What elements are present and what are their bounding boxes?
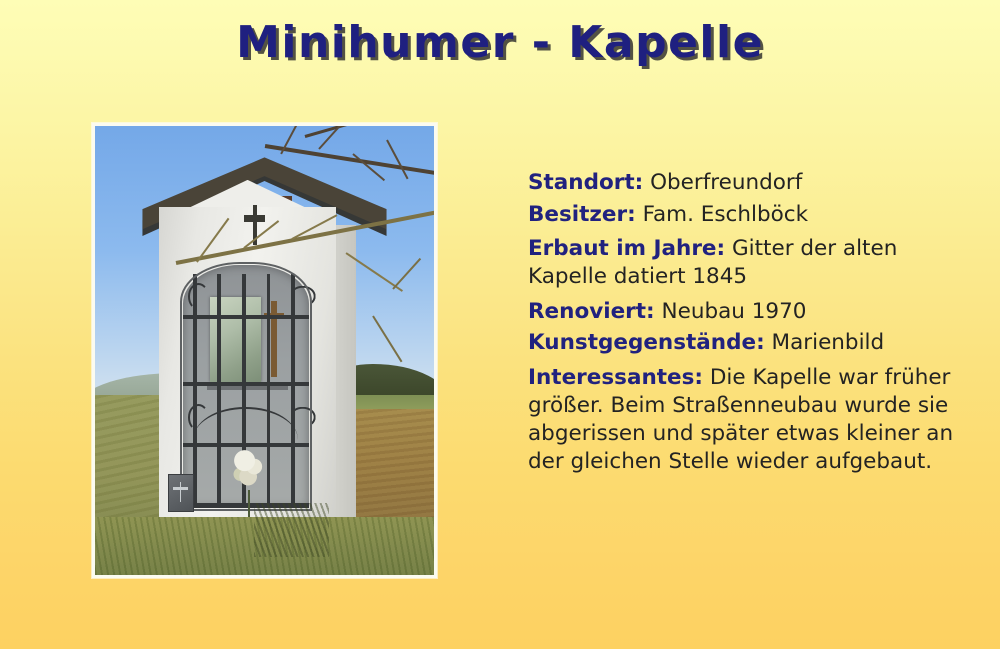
info-row-besitzer: Besitzer: Fam. Eschlböck <box>528 204 983 226</box>
page-title: Minihumer - Kapelle <box>0 18 1000 69</box>
info-row-kunstgegenstaende: Kunstgegenstände: Marienbild <box>528 332 983 354</box>
info-value-kunstgegenstaende: Marienbild <box>772 330 885 355</box>
info-label-standort: Standort: <box>528 170 643 195</box>
chapel-info-list: Standort: Oberfreundorf Besitzer: Fam. E… <box>528 172 983 486</box>
chapel-photo-frame <box>92 123 437 578</box>
grass-tuft <box>254 503 329 557</box>
info-value-standort: Oberfreundorf <box>650 170 802 195</box>
info-label-besitzer: Besitzer: <box>528 202 636 227</box>
info-row-erbaut: Erbaut im Jahre: Gitter der alten Kapell… <box>528 235 983 291</box>
info-label-kunstgegenstaende: Kunstgegenstände: <box>528 330 765 355</box>
info-row-renoviert: Renoviert: Neubau 1970 <box>528 301 983 323</box>
info-row-standort: Standort: Oberfreundorf <box>528 172 983 194</box>
info-label-erbaut: Erbaut im Jahre: <box>528 236 725 261</box>
survey-marker-plaque <box>168 474 194 512</box>
info-value-besitzer: Fam. Eschlböck <box>643 202 808 227</box>
info-value-renoviert: Neubau 1970 <box>662 299 807 324</box>
info-label-interessantes: Interessantes: <box>528 365 703 390</box>
chapel-photo <box>95 126 434 575</box>
info-row-interessantes: Interessantes: Die Kapelle war früher gr… <box>528 364 983 476</box>
info-label-renoviert: Renoviert: <box>528 299 655 324</box>
slide-page: Minihumer - Kapelle <box>0 0 1000 649</box>
